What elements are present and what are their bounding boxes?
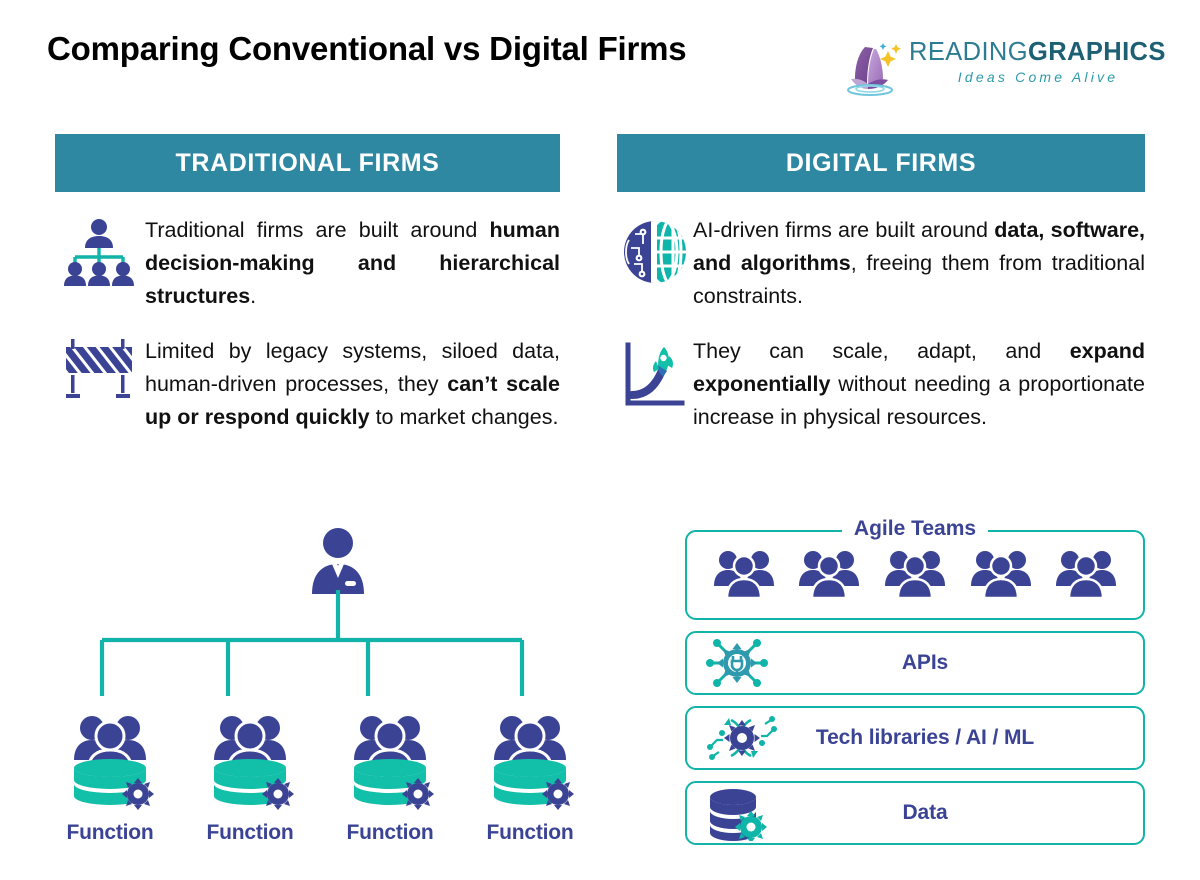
function-label: Function: [346, 821, 433, 845]
logo-wordmark: READINGGRAPHICS Ideas Come Alive: [909, 37, 1159, 87]
text-run: They can scale, adapt, and: [693, 339, 1070, 363]
function-label: Function: [486, 821, 573, 845]
logo-tagline: Ideas Come Alive: [909, 67, 1159, 87]
agile-teams-group: Agile Teams: [685, 530, 1145, 620]
function-nodes: Function: [40, 712, 600, 845]
text-run: Traditional firms are built around: [145, 218, 490, 242]
bullet-item: AI-driven firms are built around data, s…: [617, 214, 1145, 313]
logo-word-row: READINGGRAPHICS: [909, 37, 1159, 67]
ai-globe-circuit-icon: [617, 214, 693, 286]
bullet-text: They can scale, adapt, and expand expone…: [693, 335, 1145, 434]
traditional-firms-heading: TRADITIONAL FIRMS: [55, 134, 560, 192]
road-barrier-icon: [55, 335, 143, 401]
column-digital: DIGITAL FIRMS: [617, 134, 1145, 456]
bullet-text: Traditional firms are built around human…: [143, 214, 560, 313]
function-label: Function: [66, 821, 153, 845]
infographic-page: Comparing Conventional vs Digital Firms: [0, 0, 1200, 880]
readinggraphics-logo: READINGGRAPHICS Ideas Come Alive: [843, 37, 1163, 103]
open-book-with-stars-icon: [843, 39, 905, 97]
team-database-gear-icon: [482, 712, 578, 817]
team-group-icon: [970, 548, 1032, 603]
tech-gear-refresh-icon: [705, 710, 779, 766]
team-database-gear-icon: [202, 712, 298, 817]
traditional-bullets: Traditional firms are built around human…: [55, 214, 560, 434]
text-run: AI-driven firms are built around: [693, 218, 994, 242]
column-traditional: TRADITIONAL FIRMS: [55, 134, 560, 456]
team-database-gear-icon: [342, 712, 438, 817]
traditional-org-chart: Function: [40, 520, 600, 860]
org-hierarchy-icon: [55, 214, 143, 286]
function-node: Function: [320, 712, 460, 845]
digital-stack: Agile Teams: [685, 530, 1145, 856]
rocket-growth-curve-icon: [617, 335, 693, 411]
team-group-icon: [884, 548, 946, 603]
bullet-text: Limited by legacy systems, siloed data, …: [143, 335, 560, 434]
team-group-icon: [713, 548, 775, 603]
bullet-item: Limited by legacy systems, siloed data, …: [55, 335, 560, 434]
agile-teams-legend: Agile Teams: [687, 517, 1143, 541]
digital-firms-heading: DIGITAL FIRMS: [617, 134, 1145, 192]
stack-row-apis: APIs: [685, 631, 1145, 695]
text-run: .: [250, 284, 256, 308]
function-node: Function: [460, 712, 600, 845]
database-gear-icon: [705, 785, 767, 841]
team-database-gear-icon: [62, 712, 158, 817]
org-chart-connectors: [40, 520, 600, 720]
stack-row-tech-libraries: Tech libraries / AI / ML: [685, 706, 1145, 770]
logo-word-reading: READING: [909, 38, 1028, 66]
api-gear-plug-icon: [705, 635, 769, 691]
page-title: Comparing Conventional vs Digital Firms: [47, 30, 686, 68]
text-run: to market changes.: [370, 405, 559, 429]
bullet-item: They can scale, adapt, and expand expone…: [617, 335, 1145, 434]
logo-word-graphics: GRAPHICS: [1028, 38, 1166, 66]
function-node: Function: [40, 712, 180, 845]
team-group-icon: [1055, 548, 1117, 603]
function-node: Function: [180, 712, 320, 845]
agile-team-row: [687, 532, 1143, 618]
bullet-text: AI-driven firms are built around data, s…: [693, 214, 1145, 313]
digital-bullets: AI-driven firms are built around data, s…: [617, 214, 1145, 434]
function-label: Function: [206, 821, 293, 845]
bullet-item: Traditional firms are built around human…: [55, 214, 560, 313]
team-group-icon: [798, 548, 860, 603]
agile-teams-label: Agile Teams: [842, 517, 988, 540]
stack-row-data: Data: [685, 781, 1145, 845]
